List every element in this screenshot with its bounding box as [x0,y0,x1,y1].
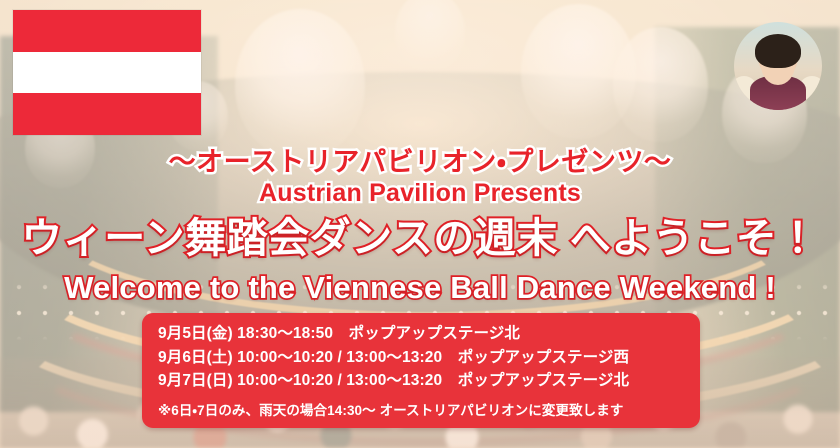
schedule-row: 9月5日(金) 18:30〜18:50 ポップアップステージ北 [158,322,700,346]
performer-portrait-avatar [734,22,822,110]
headline-block: 〜オーストリアパビリオン・プレゼンツ〜 Austrian Pavilion Pr… [0,148,840,307]
poster-root: 〜オーストリアパビリオン・プレゼンツ〜 Austrian Pavilion Pr… [0,0,840,448]
portrait-hair [755,34,801,68]
schedule-rain-note: ※6日・7日のみ、雨天の場合14:30〜 オーストリアパビリオンに変更致します [142,393,700,419]
austrian-flag [13,10,201,135]
flag-band-red-top [13,10,201,52]
hero-title-japanese: ウィーン舞踏会ダンスの週末 へようこそ！ [0,216,840,262]
hero-title-english: Welcome to the Viennese Ball Dance Weeke… [0,270,840,307]
kicker-japanese: 〜オーストリアパビリオン・プレゼンツ〜 [0,148,840,177]
schedule-row: 9月6日(土) 10:00〜10:20 / 13:00〜13:20 ポップアップ… [158,346,700,370]
schedule-list: 9月5日(金) 18:30〜18:50 ポップアップステージ北 9月6日(土) … [142,313,700,393]
schedule-row: 9月7日(日) 10:00〜10:20 / 13:00〜13:20 ポップアップ… [158,369,700,393]
kicker-english: Austrian Pavilion Presents [0,179,840,209]
schedule-card: 9月5日(金) 18:30〜18:50 ポップアップステージ北 9月6日(土) … [142,313,700,428]
flag-band-white [13,52,201,94]
flag-band-red-bottom [13,93,201,135]
